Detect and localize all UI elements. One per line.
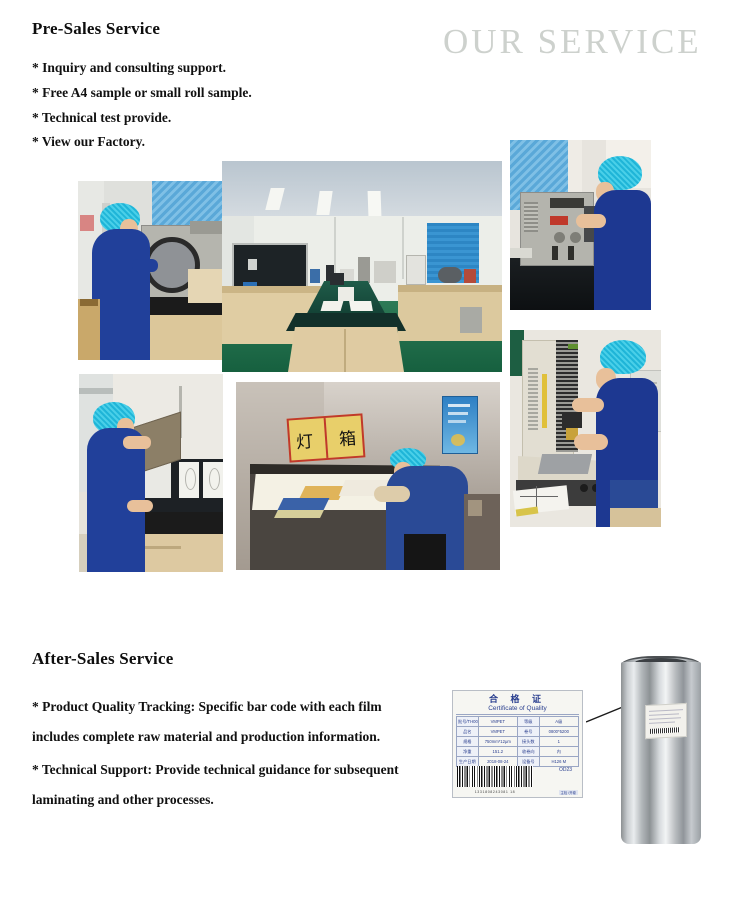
- quality-certificate-label: 合 格 证 Certificate of Quality 批号/TH008-20…: [452, 690, 583, 798]
- pre-sales-bullet-4: * View our Factory.: [32, 134, 145, 150]
- cert-value2: A级: [539, 717, 578, 727]
- table-row: 净重 151.2 收卷向 内: [457, 747, 579, 757]
- certificate-barcode: [457, 766, 533, 787]
- certificate-title-cn: 合 格 证: [456, 694, 579, 705]
- cert-value: VMPET: [478, 727, 517, 737]
- certificate-barcode-number: 1331808243081 18: [457, 790, 533, 794]
- certificate-table: 批号/TH008-2008 VMPET 等级 A级 品名 VMPET 卷号 08…: [456, 716, 579, 767]
- page-watermark: OUR SERVICE: [443, 22, 702, 62]
- lightbox-sign: 灯 箱: [287, 413, 366, 462]
- cert-label2: 设备号: [517, 757, 539, 767]
- service-page: OUR SERVICE Pre-Sales Service * Inquiry …: [0, 0, 750, 900]
- cert-label: 批号/TH008-2008: [457, 717, 479, 727]
- table-row: 生产日期 2018-08-24 设备号 H126 M: [457, 757, 579, 767]
- roll-body: [621, 662, 701, 844]
- pre-sales-bullet-3: * Technical test provide.: [32, 110, 171, 126]
- cert-label: 品名: [457, 727, 479, 737]
- cert-value2: 0800*5200: [539, 727, 578, 737]
- cert-value: 750mm*12μm: [478, 737, 517, 747]
- after-sales-paragraph-2: * Technical Support: Provide technical g…: [32, 755, 424, 815]
- table-row: 品名 VMPET 卷号 0800*5200: [457, 727, 579, 737]
- cert-label: 生产日期: [457, 757, 479, 767]
- pre-sales-heading: Pre-Sales Service: [32, 19, 160, 39]
- photo-tensile-test-machine: [510, 330, 661, 527]
- cert-label: 净重: [457, 747, 479, 757]
- photo-quality-control-room: [222, 161, 502, 372]
- pre-sales-bullet-1: * Inquiry and consulting support.: [32, 60, 226, 76]
- certificate-title-en: Certificate of Quality: [456, 705, 579, 715]
- cert-label2: 等级: [517, 717, 539, 727]
- cert-value2: 1: [539, 737, 578, 747]
- cert-label2: 接头数: [517, 737, 539, 747]
- cert-value: 2018-08-24: [478, 757, 517, 767]
- certificate-od-value: OD23: [559, 767, 572, 773]
- cert-label: 规格: [457, 737, 479, 747]
- table-row: 批号/TH008-2008 VMPET 等级 A级: [457, 717, 579, 727]
- cert-value: VMPET: [478, 717, 517, 727]
- pre-sales-bullet-2: * Free A4 sample or small roll sample.: [32, 85, 252, 101]
- photo-vmpet-film-roll: [609, 648, 701, 844]
- roll-applied-label: [645, 703, 687, 739]
- after-sales-heading: After-Sales Service: [32, 649, 173, 669]
- cert-value2: 内: [539, 747, 578, 757]
- photo-light-box-inspection: 灯 箱: [236, 382, 500, 570]
- cert-label2: 收卷向: [517, 747, 539, 757]
- photo-lab-oven-inspection: [78, 181, 223, 360]
- cert-value: 151.2: [478, 747, 517, 757]
- photo-desktop-analyzer: [79, 374, 223, 572]
- photo-heat-seal-tester: [510, 140, 651, 310]
- table-row: 规格 750mm*12μm 接头数 1: [457, 737, 579, 747]
- after-sales-paragraph-1: * Product Quality Tracking: Specific bar…: [32, 692, 424, 752]
- cert-label2: 卷号: [517, 727, 539, 737]
- cert-value2: H126 M: [539, 757, 578, 767]
- certificate-footer: 主检 /开卷: [559, 790, 578, 795]
